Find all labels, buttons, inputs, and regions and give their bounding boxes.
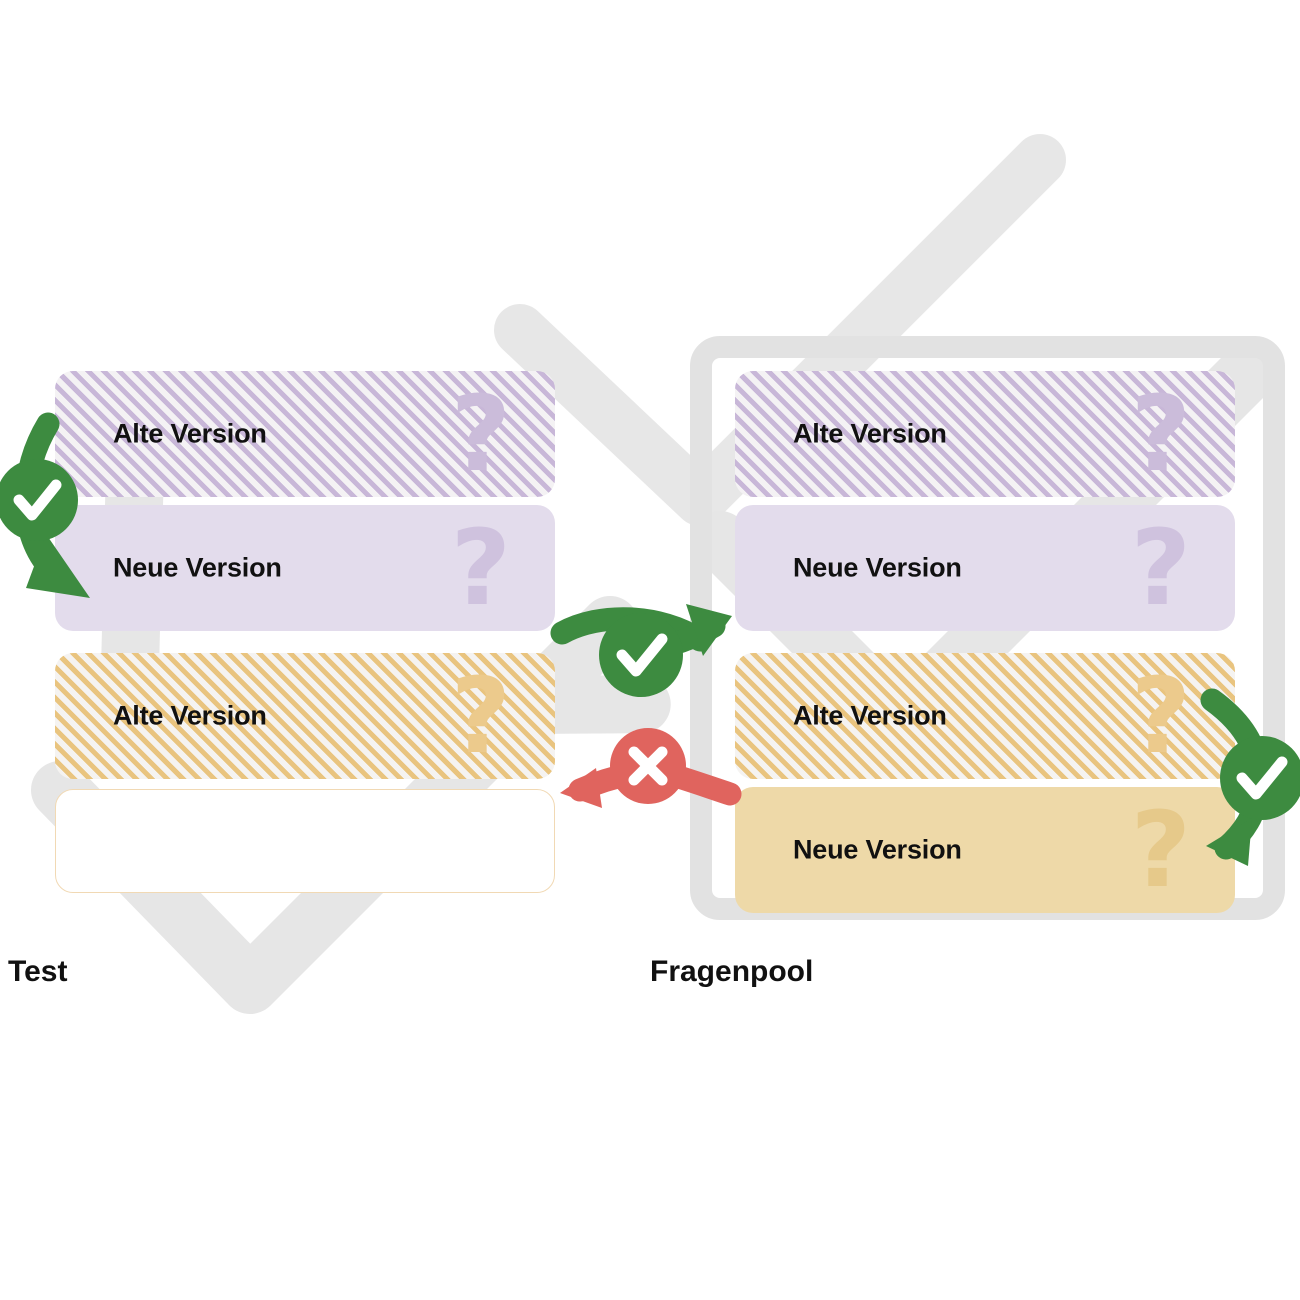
test-box-alte-version-purple[interactable]: ? Alte Version — [55, 371, 555, 497]
check-icon — [19, 485, 56, 515]
pool-box-alte-version-orange[interactable]: ? Alte Version — [735, 653, 1235, 779]
pool-box-neue-version-orange[interactable]: ? Neue Version — [735, 787, 1235, 913]
test-box-label: Alte Version — [113, 419, 267, 450]
question-mark-icon: ? — [451, 382, 511, 486]
test-box-label: Neue Version — [113, 553, 282, 584]
test-box-neue-version-purple[interactable]: ? Neue Version — [55, 505, 555, 631]
check-icon — [622, 639, 662, 671]
question-mark-icon: ? — [1131, 382, 1191, 486]
question-mark-icon: ? — [1131, 516, 1191, 620]
pool-box-alte-version-purple[interactable]: ? Alte Version — [735, 371, 1235, 497]
pool-box-label: Neue Version — [793, 835, 962, 866]
diagram-canvas: ? Alte Version ? Neue Version ? Alte Ver… — [0, 0, 1300, 1300]
question-mark-icon: ? — [451, 664, 511, 768]
test-box-empty-placeholder[interactable] — [55, 789, 555, 893]
pool-box-label: Alte Version — [793, 419, 947, 450]
pool-box-label: Alte Version — [793, 701, 947, 732]
x-badge-icon — [610, 728, 686, 804]
check-badge-icon — [599, 613, 683, 697]
fragenpool-panel-caption: Fragenpool — [650, 955, 813, 989]
pool-box-neue-version-purple[interactable]: ? Neue Version — [735, 505, 1235, 631]
question-mark-icon: ? — [451, 516, 511, 620]
question-mark-icon: ? — [1131, 798, 1191, 902]
close-icon — [634, 752, 662, 780]
test-panel-caption: Test — [8, 955, 67, 989]
test-box-label: Alte Version — [113, 701, 267, 732]
question-mark-icon: ? — [1131, 664, 1191, 768]
pool-box-label: Neue Version — [793, 553, 962, 584]
test-box-alte-version-orange[interactable]: ? Alte Version — [55, 653, 555, 779]
